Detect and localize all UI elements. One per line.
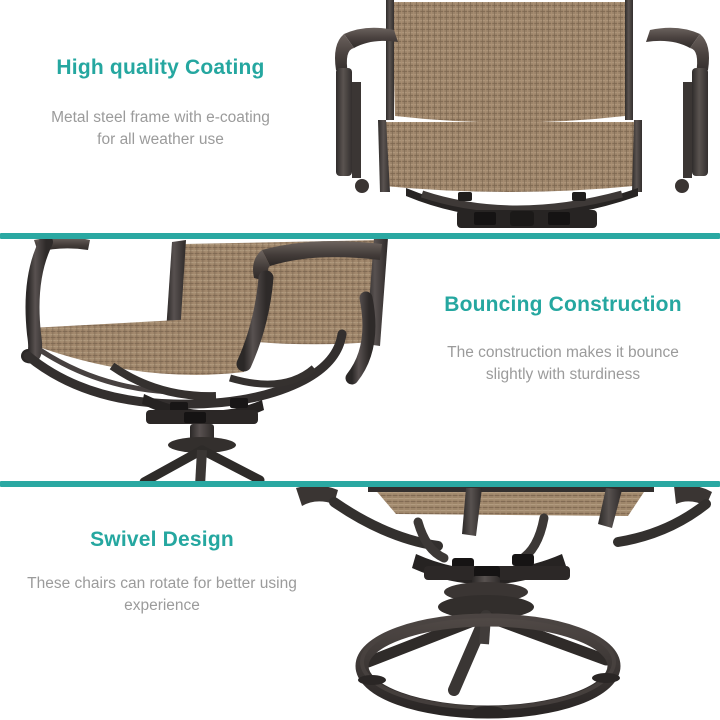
chair-image-swivel-base-closeup	[276, 480, 720, 720]
product-feature-infographic: High quality Coating Metal steel frame w…	[0, 0, 720, 720]
section-divider-2	[0, 481, 720, 487]
feature-description-2: The construction makes it bounce slightl…	[408, 342, 718, 386]
feature-title-2: Bouncing Construction	[408, 293, 718, 316]
feature-description-1: Metal steel frame with e-coating for all…	[8, 107, 313, 151]
feature-block-high-quality-coating: High quality Coating Metal steel frame w…	[8, 56, 313, 151]
section-divider-1	[0, 233, 720, 239]
chair-image-angled-view	[0, 238, 418, 486]
feature-description-3: These chairs can rotate for better using…	[12, 573, 312, 617]
chair-image-front-view	[322, 0, 720, 236]
feature-title-3: Swivel Design	[12, 528, 312, 551]
feature-block-bouncing-construction: Bouncing Construction The construction m…	[408, 293, 718, 386]
feature-block-swivel-design: Swivel Design These chairs can rotate fo…	[12, 528, 312, 617]
feature-title-1: High quality Coating	[8, 56, 313, 79]
